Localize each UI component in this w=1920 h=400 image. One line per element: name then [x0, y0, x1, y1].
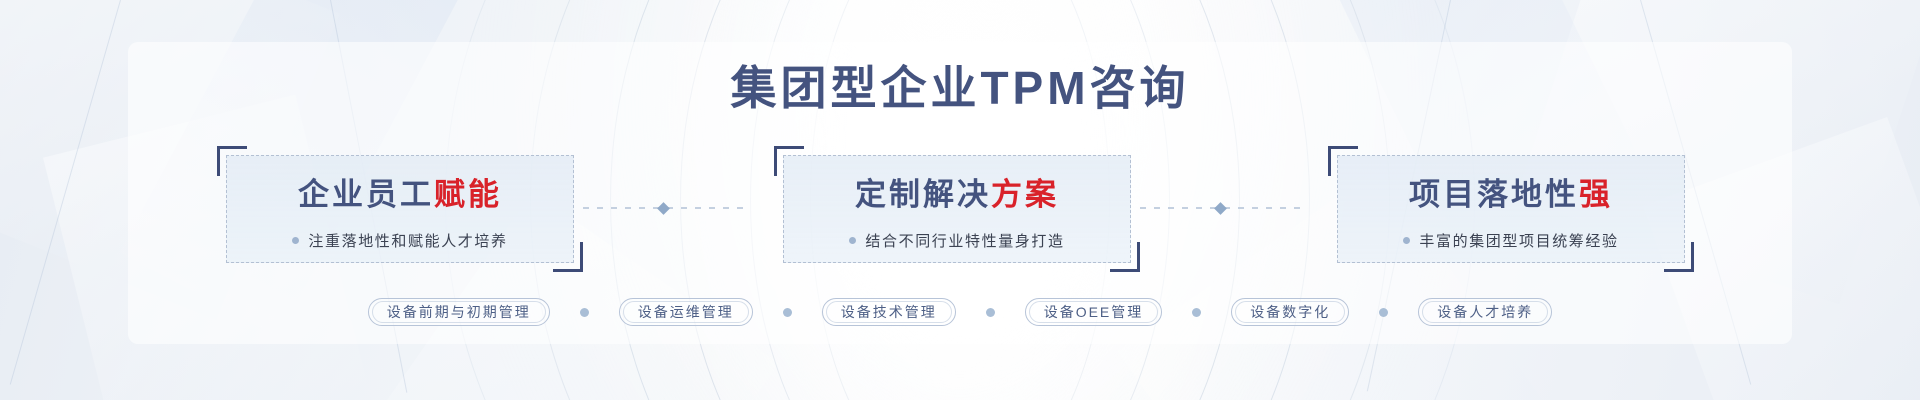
tag-pill[interactable]: 设备OEE管理: [1025, 298, 1163, 326]
bullet-dot-icon: [1403, 237, 1410, 244]
feature-card-title: 定制解决方案: [784, 169, 1130, 214]
tag-row: 设备前期与初期管理 设备运维管理 设备技术管理 设备OEE管理 设备数字化 设备…: [128, 292, 1792, 332]
separator-dot-icon: [1379, 308, 1388, 317]
feature-card-title-plain: 企业员工: [298, 177, 434, 212]
tag-pill[interactable]: 设备技术管理: [822, 298, 956, 326]
tag-pill[interactable]: 设备前期与初期管理: [368, 298, 550, 326]
feature-card-title-highlight: 方案: [991, 177, 1059, 212]
tag-pill[interactable]: 设备运维管理: [619, 298, 753, 326]
feature-card[interactable]: 项目落地性强 丰富的集团型项目统筹经验: [1337, 155, 1685, 263]
diamond-node-icon: [657, 202, 670, 215]
feature-card-subtitle: 注重落地性和赋能人才培养: [308, 233, 507, 250]
card-connector: [583, 207, 743, 209]
tag-pill[interactable]: 设备人才培养: [1418, 298, 1552, 326]
feature-card-subtitle-row: 注重落地性和赋能人才培养: [227, 230, 573, 251]
separator-dot-icon: [580, 308, 589, 317]
feature-card-title-highlight: 强: [1579, 177, 1613, 212]
feature-card-title-plain: 项目落地性: [1409, 177, 1579, 212]
bullet-dot-icon: [849, 237, 856, 244]
separator-dot-icon: [1192, 308, 1201, 317]
feature-card[interactable]: 定制解决方案 结合不同行业特性量身打造: [783, 155, 1131, 263]
feature-card-title-highlight: 赋能: [434, 177, 502, 212]
bullet-dot-icon: [292, 237, 299, 244]
page-title: 集团型企业TPM咨询: [0, 52, 1920, 118]
feature-card-subtitle: 结合不同行业特性量身打造: [865, 233, 1064, 250]
separator-dot-icon: [783, 308, 792, 317]
diamond-node-icon: [1214, 202, 1227, 215]
feature-card-subtitle-row: 结合不同行业特性量身打造: [784, 230, 1130, 251]
tag-pill[interactable]: 设备数字化: [1231, 298, 1349, 326]
feature-card-title: 项目落地性强: [1338, 169, 1684, 214]
feature-card-title: 企业员工赋能: [227, 169, 573, 214]
feature-card[interactable]: 企业员工赋能 注重落地性和赋能人才培养: [226, 155, 574, 263]
card-connector: [1140, 207, 1300, 209]
feature-card-subtitle: 丰富的集团型项目统筹经验: [1419, 233, 1618, 250]
feature-card-subtitle-row: 丰富的集团型项目统筹经验: [1338, 230, 1684, 251]
feature-card-row: 企业员工赋能 注重落地性和赋能人才培养 定制解决方案 结合不同行业特性量身打造 …: [128, 155, 1792, 270]
feature-card-title-plain: 定制解决: [855, 177, 991, 212]
separator-dot-icon: [986, 308, 995, 317]
